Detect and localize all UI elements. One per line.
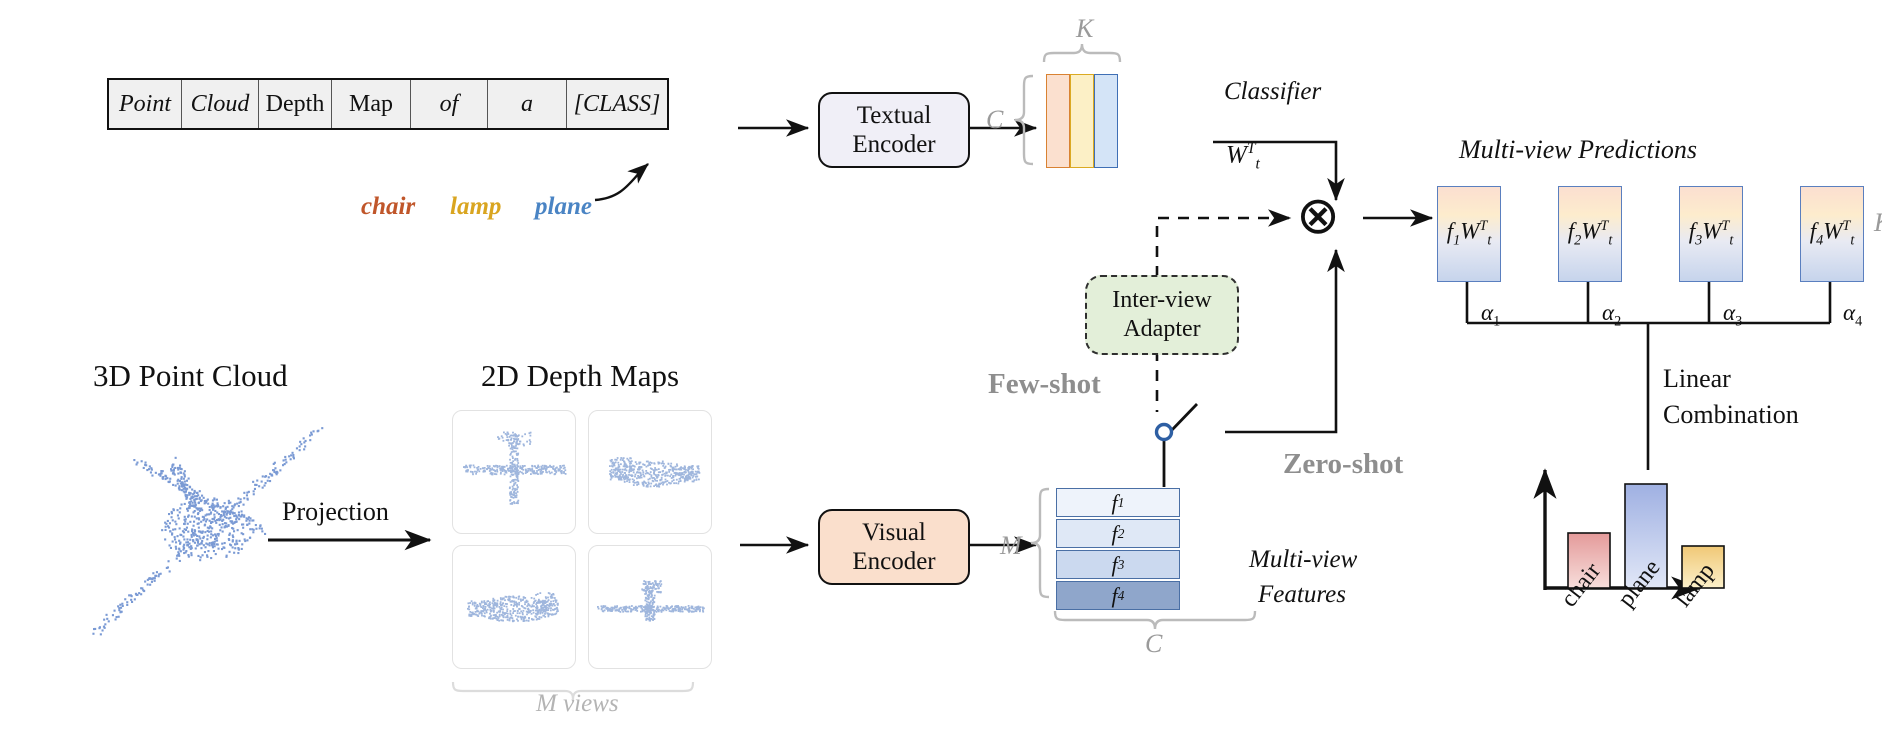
depth-maps-title: 2D Depth Maps: [481, 358, 679, 394]
prompt-token[interactable]: Cloud: [182, 80, 259, 128]
prediction-box-1[interactable]: f1WTt: [1437, 186, 1501, 282]
feature-sub: 4: [1118, 588, 1125, 604]
alpha-4: α4: [1843, 300, 1862, 331]
alpha-sub: 1: [1493, 314, 1500, 330]
linear-combination-line2: Combination: [1663, 400, 1799, 430]
depth-map-view-1: [453, 411, 575, 533]
feature-sub: 2: [1118, 526, 1125, 542]
classifier-brace-c-label: C: [986, 105, 1003, 135]
class-word-plane[interactable]: plane: [535, 193, 592, 221]
prompt-token[interactable]: Depth: [259, 80, 332, 128]
pred-w: W: [1823, 219, 1842, 244]
alpha-sym: α: [1602, 300, 1614, 325]
features-caption-line2: Features: [1258, 581, 1346, 609]
classifier-column-lamp: [1070, 74, 1094, 168]
pred-w: W: [1460, 219, 1479, 244]
prompt-token-row: Point Cloud Depth Map of a [CLASS]: [107, 78, 669, 130]
adapter-line1: Inter-view: [1112, 286, 1211, 315]
class-word-lamp[interactable]: lamp: [450, 193, 501, 221]
alpha-sub: 3: [1735, 314, 1742, 330]
visual-encoder-line2: Encoder: [852, 547, 935, 577]
prompt-token[interactable]: Map: [332, 80, 411, 128]
pred-w-sup: T: [1842, 218, 1850, 234]
features-caption-line1: Multi-view: [1249, 546, 1357, 574]
pred-w-sup: T: [1721, 218, 1729, 234]
classifier-matrix: [1046, 74, 1118, 166]
depth-map-tile[interactable]: [452, 545, 576, 669]
depth-map-tile[interactable]: [588, 410, 712, 534]
weight-sub: t: [1255, 155, 1259, 172]
prompt-token[interactable]: a: [488, 80, 567, 128]
classifier-caption: Classifier: [1224, 78, 1321, 106]
pred-w-sup: T: [1600, 218, 1608, 234]
alpha-1: α1: [1481, 300, 1500, 331]
pred-w-sub: t: [1487, 233, 1491, 249]
pred-w: W: [1702, 219, 1721, 244]
depth-map-view-3: [453, 546, 575, 668]
visual-encoder-line1: Visual: [862, 518, 926, 548]
pred-w: W: [1581, 219, 1600, 244]
linear-combination-line1: Linear: [1663, 364, 1731, 394]
predictions-title: Multi-view Predictions: [1459, 135, 1697, 165]
alpha-sub: 2: [1614, 314, 1621, 330]
alpha-sym: α: [1481, 300, 1493, 325]
feature-sub: 1: [1118, 495, 1125, 511]
prediction-box-3[interactable]: f3WTt: [1679, 186, 1743, 282]
pred-w-sub: t: [1608, 233, 1612, 249]
inter-view-adapter-box[interactable]: Inter-view Adapter: [1085, 275, 1239, 355]
feature-row-f1[interactable]: f1: [1056, 488, 1180, 517]
depth-map-view-4: [589, 546, 711, 668]
visual-encoder-box[interactable]: Visual Encoder: [818, 509, 970, 585]
point-cloud-render: [75, 420, 355, 650]
m-views-caption: M views: [536, 690, 619, 718]
classifier-column-plane: [1094, 74, 1118, 168]
prediction-box-4[interactable]: f4WTt: [1800, 186, 1864, 282]
zero-shot-label: Zero-shot: [1283, 448, 1403, 481]
textual-encoder-line1: Textual: [857, 101, 932, 131]
pred-w-sup: T: [1479, 218, 1487, 234]
features-brace-m-label: M: [1000, 531, 1022, 561]
pred-w-sub: t: [1729, 233, 1733, 249]
weight-w: W: [1226, 141, 1247, 168]
depth-map-view-2: [589, 411, 711, 533]
features-brace-c-label: C: [1145, 629, 1162, 659]
alpha-sub: 4: [1855, 314, 1862, 330]
prediction-box-2[interactable]: f2WTt: [1558, 186, 1622, 282]
matrix-multiply-icon: ⊗: [1289, 188, 1347, 246]
predictions-brace-k-label: K: [1874, 208, 1882, 238]
classifier-brace-k-label: K: [1076, 14, 1093, 44]
alpha-sym: α: [1723, 300, 1735, 325]
alpha-3: α3: [1723, 300, 1742, 331]
prompt-token[interactable]: of: [411, 80, 488, 128]
depth-map-tile[interactable]: [452, 410, 576, 534]
textual-encoder-box[interactable]: Textual Encoder: [818, 92, 970, 168]
point-cloud-title: 3D Point Cloud: [93, 358, 288, 394]
adapter-line2: Adapter: [1123, 315, 1200, 344]
projection-label: Projection: [282, 497, 389, 527]
prompt-token[interactable]: Point: [109, 80, 182, 128]
depth-map-tile[interactable]: [588, 545, 712, 669]
classifier-weight-label: WTt: [1226, 140, 1260, 173]
feature-row-f2[interactable]: f2: [1056, 519, 1180, 548]
alpha-sym: α: [1843, 300, 1855, 325]
feature-sub: 3: [1118, 557, 1125, 573]
alpha-2: α2: [1602, 300, 1621, 331]
pred-w-sub: t: [1850, 233, 1854, 249]
feature-row-f4[interactable]: f4: [1056, 581, 1180, 610]
textual-encoder-line2: Encoder: [852, 130, 935, 160]
few-shot-label: Few-shot: [988, 368, 1101, 401]
feature-row-f3[interactable]: f3: [1056, 550, 1180, 579]
prompt-token-class[interactable]: [CLASS]: [567, 80, 667, 128]
class-word-chair[interactable]: chair: [361, 193, 415, 221]
diagram-canvas: Point Cloud Depth Map of a [CLASS] chair…: [0, 0, 1882, 746]
classifier-column-chair: [1046, 74, 1070, 168]
